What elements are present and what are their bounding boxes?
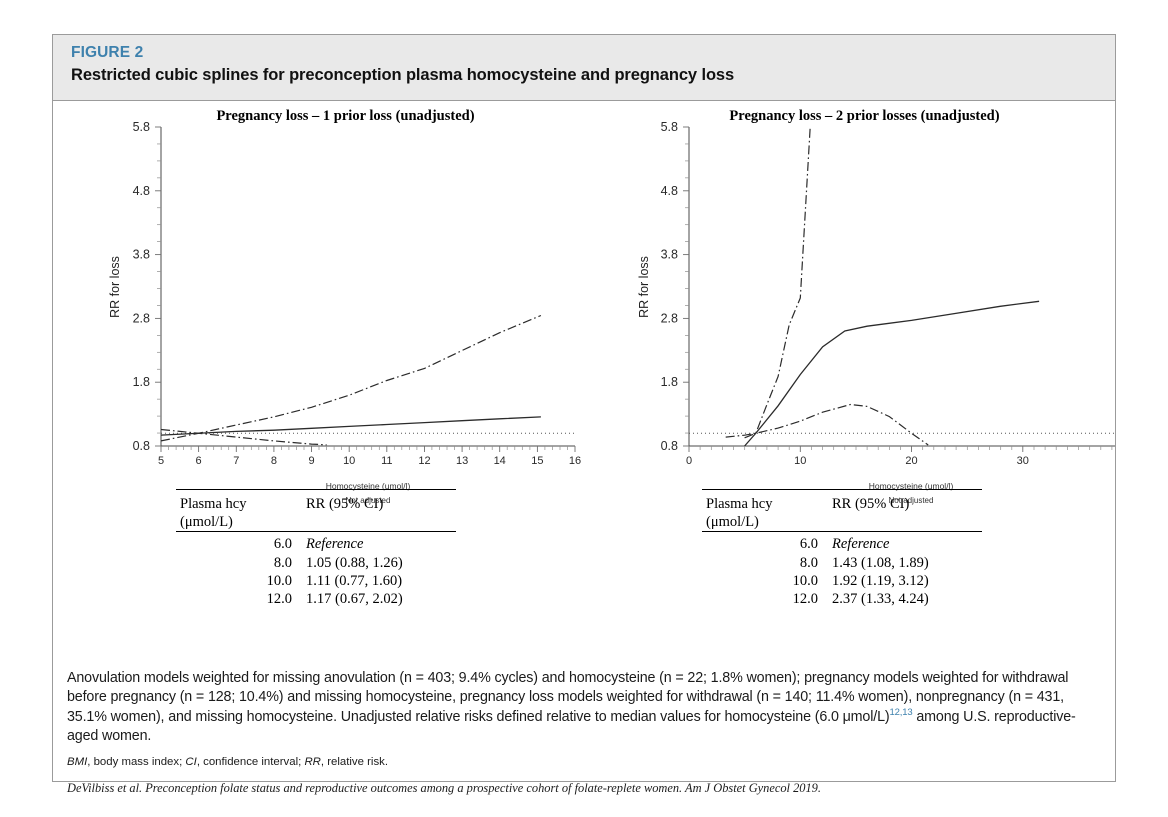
cell-hcy: 6.0 [176, 535, 302, 553]
table-row: 10.0 1.11 (0.77, 1.60) [176, 572, 456, 590]
x-tick-label: 5 [158, 455, 164, 467]
footnote-abbreviations: BMI, body mass index; CI, confidence int… [67, 755, 1101, 770]
panel-1-prior-loss: Pregnancy loss – 1 prior loss (unadjuste… [53, 101, 584, 661]
y-axis-ticks-right [683, 127, 689, 446]
figure-citation: DeVilbiss et al. Preconception folate st… [67, 781, 1101, 796]
y-tick-label: 0.8 [133, 439, 150, 453]
table-header-hcy: Plasma hcy (μmol/L) [702, 494, 828, 532]
rr-table-right: Plasma hcy (μmol/L) RR (95% CI) 6.0 Refe… [702, 489, 982, 608]
table-row: 6.0 Reference [176, 535, 456, 553]
cell-hcy: 10.0 [702, 572, 828, 590]
chart-right: 5.8 4.8 3.8 2.8 1.8 0.8 RR for loss [584, 101, 1115, 491]
curve-point-estimate-left [161, 417, 541, 435]
rr-table-left: Plasma hcy (μmol/L) RR (95% CI) 6.0 Refe… [176, 489, 456, 608]
cell-rr: 1.05 (0.88, 1.26) [302, 554, 456, 572]
x-tick-label: 11 [381, 455, 392, 467]
table-header-hcy: Plasma hcy (μmol/L) [176, 494, 302, 532]
x-axis-minor-ticks-left [169, 446, 568, 450]
cell-hcy: 10.0 [176, 572, 302, 590]
cell-rr: 1.11 (0.77, 1.60) [302, 572, 456, 590]
table-header-hcy-line1: Plasma hcy [706, 496, 772, 512]
curve-upper-ci-left [161, 316, 541, 434]
table-row: 12.0 2.37 (1.33, 4.24) [702, 590, 982, 608]
table-header-rr: RR (95% CI) [302, 494, 456, 532]
table-row: 6.0 Reference [702, 535, 982, 553]
figure-footnotes: Anovulation models weighted for missing … [53, 661, 1115, 796]
table-header-hcy-line1: Plasma hcy [180, 496, 246, 512]
x-tick-label: 0 [686, 455, 692, 467]
y-tick-label: 1.8 [661, 375, 678, 389]
y-tick-label: 1.8 [133, 375, 150, 389]
panel-2-prior-losses: Pregnancy loss – 2 prior losses (unadjus… [584, 101, 1115, 661]
y-tick-label: 4.8 [661, 184, 678, 198]
table-row: 12.0 1.17 (0.67, 2.02) [176, 590, 456, 608]
x-tick-label: 6 [196, 455, 202, 467]
y-tick-label: 5.8 [661, 120, 678, 134]
cell-rr: Reference [828, 535, 982, 553]
x-axis-ticks-left [161, 446, 575, 452]
table-header-hcy-line2: (μmol/L) [706, 514, 759, 530]
x-tick-label: 9 [308, 455, 314, 467]
x-tick-label: 13 [456, 455, 468, 467]
figure-number-label: FIGURE 2 [71, 43, 1115, 64]
abbrev-rr: RR [304, 756, 320, 768]
x-tick-label: 14 [494, 455, 506, 467]
x-tick-label: 12 [418, 455, 430, 467]
x-tick-label: 7 [233, 455, 239, 467]
y-tick-label: 0.8 [661, 439, 678, 453]
x-axis-minor-ticks-right [700, 446, 1115, 450]
cell-hcy: 6.0 [702, 535, 828, 553]
y-tick-label: 2.8 [133, 311, 150, 325]
x-tick-label: 30 [1017, 455, 1029, 467]
table-header-hcy-line2: (μmol/L) [180, 514, 233, 530]
cell-rr: 1.43 (1.08, 1.89) [828, 554, 982, 572]
cell-hcy: 8.0 [702, 554, 828, 572]
table-header-rr: RR (95% CI) [828, 494, 982, 532]
abbrev-ci-def: , confidence interval; [197, 756, 305, 768]
cell-rr: 1.17 (0.67, 2.02) [302, 590, 456, 608]
x-tick-label: 10 [794, 455, 806, 467]
y-axis-title-right: RR for loss [637, 256, 651, 318]
curve-point-estimate-right [745, 301, 1040, 446]
x-tick-label: 20 [905, 455, 917, 467]
y-tick-label: 5.8 [133, 120, 150, 134]
cell-hcy: 12.0 [702, 590, 828, 608]
footnote-main: Anovulation models weighted for missing … [67, 669, 1101, 746]
abbrev-bmi: BMI [67, 756, 87, 768]
y-axis-ticks-left [155, 127, 161, 446]
figure-title: Restricted cubic splines for preconcepti… [71, 64, 1115, 87]
cell-rr: 1.92 (1.19, 3.12) [828, 572, 982, 590]
curve-lower-ci-right [726, 405, 929, 446]
y-tick-label: 4.8 [133, 184, 150, 198]
charts-region: Pregnancy loss – 1 prior loss (unadjuste… [53, 101, 1115, 661]
x-tick-label: 8 [271, 455, 277, 467]
y-axis-title-left: RR for loss [108, 256, 122, 318]
y-tick-label: 2.8 [661, 311, 678, 325]
cell-rr: Reference [302, 535, 456, 553]
abbrev-ci: CI [185, 756, 196, 768]
table-row: 8.0 1.05 (0.88, 1.26) [176, 554, 456, 572]
abbrev-rr-def: , relative risk. [321, 756, 388, 768]
x-tick-label: 10 [343, 455, 355, 467]
footnote-superscript-refs: 12,13 [890, 707, 913, 718]
curve-lower-ci-left [161, 433, 327, 445]
figure-header: FIGURE 2 Restricted cubic splines for pr… [53, 35, 1115, 101]
y-tick-label: 3.8 [133, 248, 150, 262]
abbrev-bmi-def: , body mass index; [87, 756, 185, 768]
y-tick-label: 3.8 [661, 248, 678, 262]
table-row: 8.0 1.43 (1.08, 1.89) [702, 554, 982, 572]
x-tick-label: 15 [531, 455, 543, 467]
cell-hcy: 12.0 [176, 590, 302, 608]
cell-hcy: 8.0 [176, 554, 302, 572]
table-row: 10.0 1.92 (1.19, 3.12) [702, 572, 982, 590]
curve-upper-ci-right [745, 127, 811, 438]
x-axis-ticks-right [689, 446, 1115, 452]
x-tick-label: 16 [569, 455, 581, 467]
chart-left: 5.8 4.8 3.8 2.8 1.8 0.8 RR for loss [53, 101, 584, 491]
figure-container: FIGURE 2 Restricted cubic splines for pr… [52, 34, 1116, 782]
cell-rr: 2.37 (1.33, 4.24) [828, 590, 982, 608]
